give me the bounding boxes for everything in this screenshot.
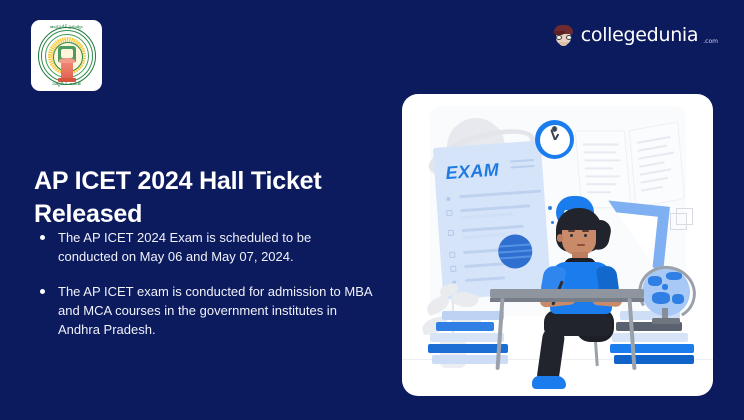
globe-icon [638,266,696,324]
book-page-right [629,121,685,207]
emblem-graphic: ఆంధ్రప్రదేశ్ ప్రభుత్వం సత్యమేవ జయతే [36,25,98,87]
desk-surface [490,289,644,298]
mascot-glasses-icon [556,35,572,40]
student-ear [557,234,563,242]
list-item: The AP ICET exam is conducted for admiss… [34,282,374,339]
student-eyebrow [568,230,575,232]
exam-paper-header-lines [510,159,535,173]
page-title: AP ICET 2024 Hall Ticket Released [34,165,354,231]
mascot-chin [559,42,568,46]
collegedunia-mascot-icon [553,24,574,46]
student-fringe [558,212,600,230]
ap-government-emblem: ఆంధ్రప్రదేశ్ ప్రభుత్వం సత్యమేవ జయతే [31,20,102,91]
exam-paper-label: EXAM [445,159,500,184]
open-book-icon [575,124,685,211]
student-eye [570,234,573,237]
brand-wordmark: collegedunia [581,24,699,46]
illustration-scene: EXAM [402,94,713,396]
globe-base [652,318,680,324]
wireframe-cube-icon [670,208,694,232]
emblem-bottom-text: సత్యమేవ జయతే [36,81,98,87]
student-eyebrow [582,230,589,232]
exam-paper-row [445,189,535,195]
student-mouth [577,244,585,246]
collegedunia-logo[interactable]: collegedunia .com [553,22,718,48]
student-eye [584,234,587,237]
wall-clock-icon [535,120,574,159]
mascot-cap [554,25,573,34]
student-shoe [532,376,566,389]
emblem-top-text: ఆంధ్రప్రదేశ్ ప్రభుత్వం [36,24,98,30]
student-shin [536,327,565,384]
highlights-list: The AP ICET 2024 Exam is scheduled to be… [34,228,374,355]
list-item: The AP ICET 2024 Exam is scheduled to be… [34,228,374,266]
ashoka-pillar-icon [61,61,73,80]
banner: ఆంధ్రప్రదేశ్ ప్రభుత్వం సత్యమేవ జయతే coll… [0,0,744,420]
brand-tld: .com [703,38,718,45]
clock-face [540,125,570,155]
illustration-card: EXAM [402,94,713,396]
